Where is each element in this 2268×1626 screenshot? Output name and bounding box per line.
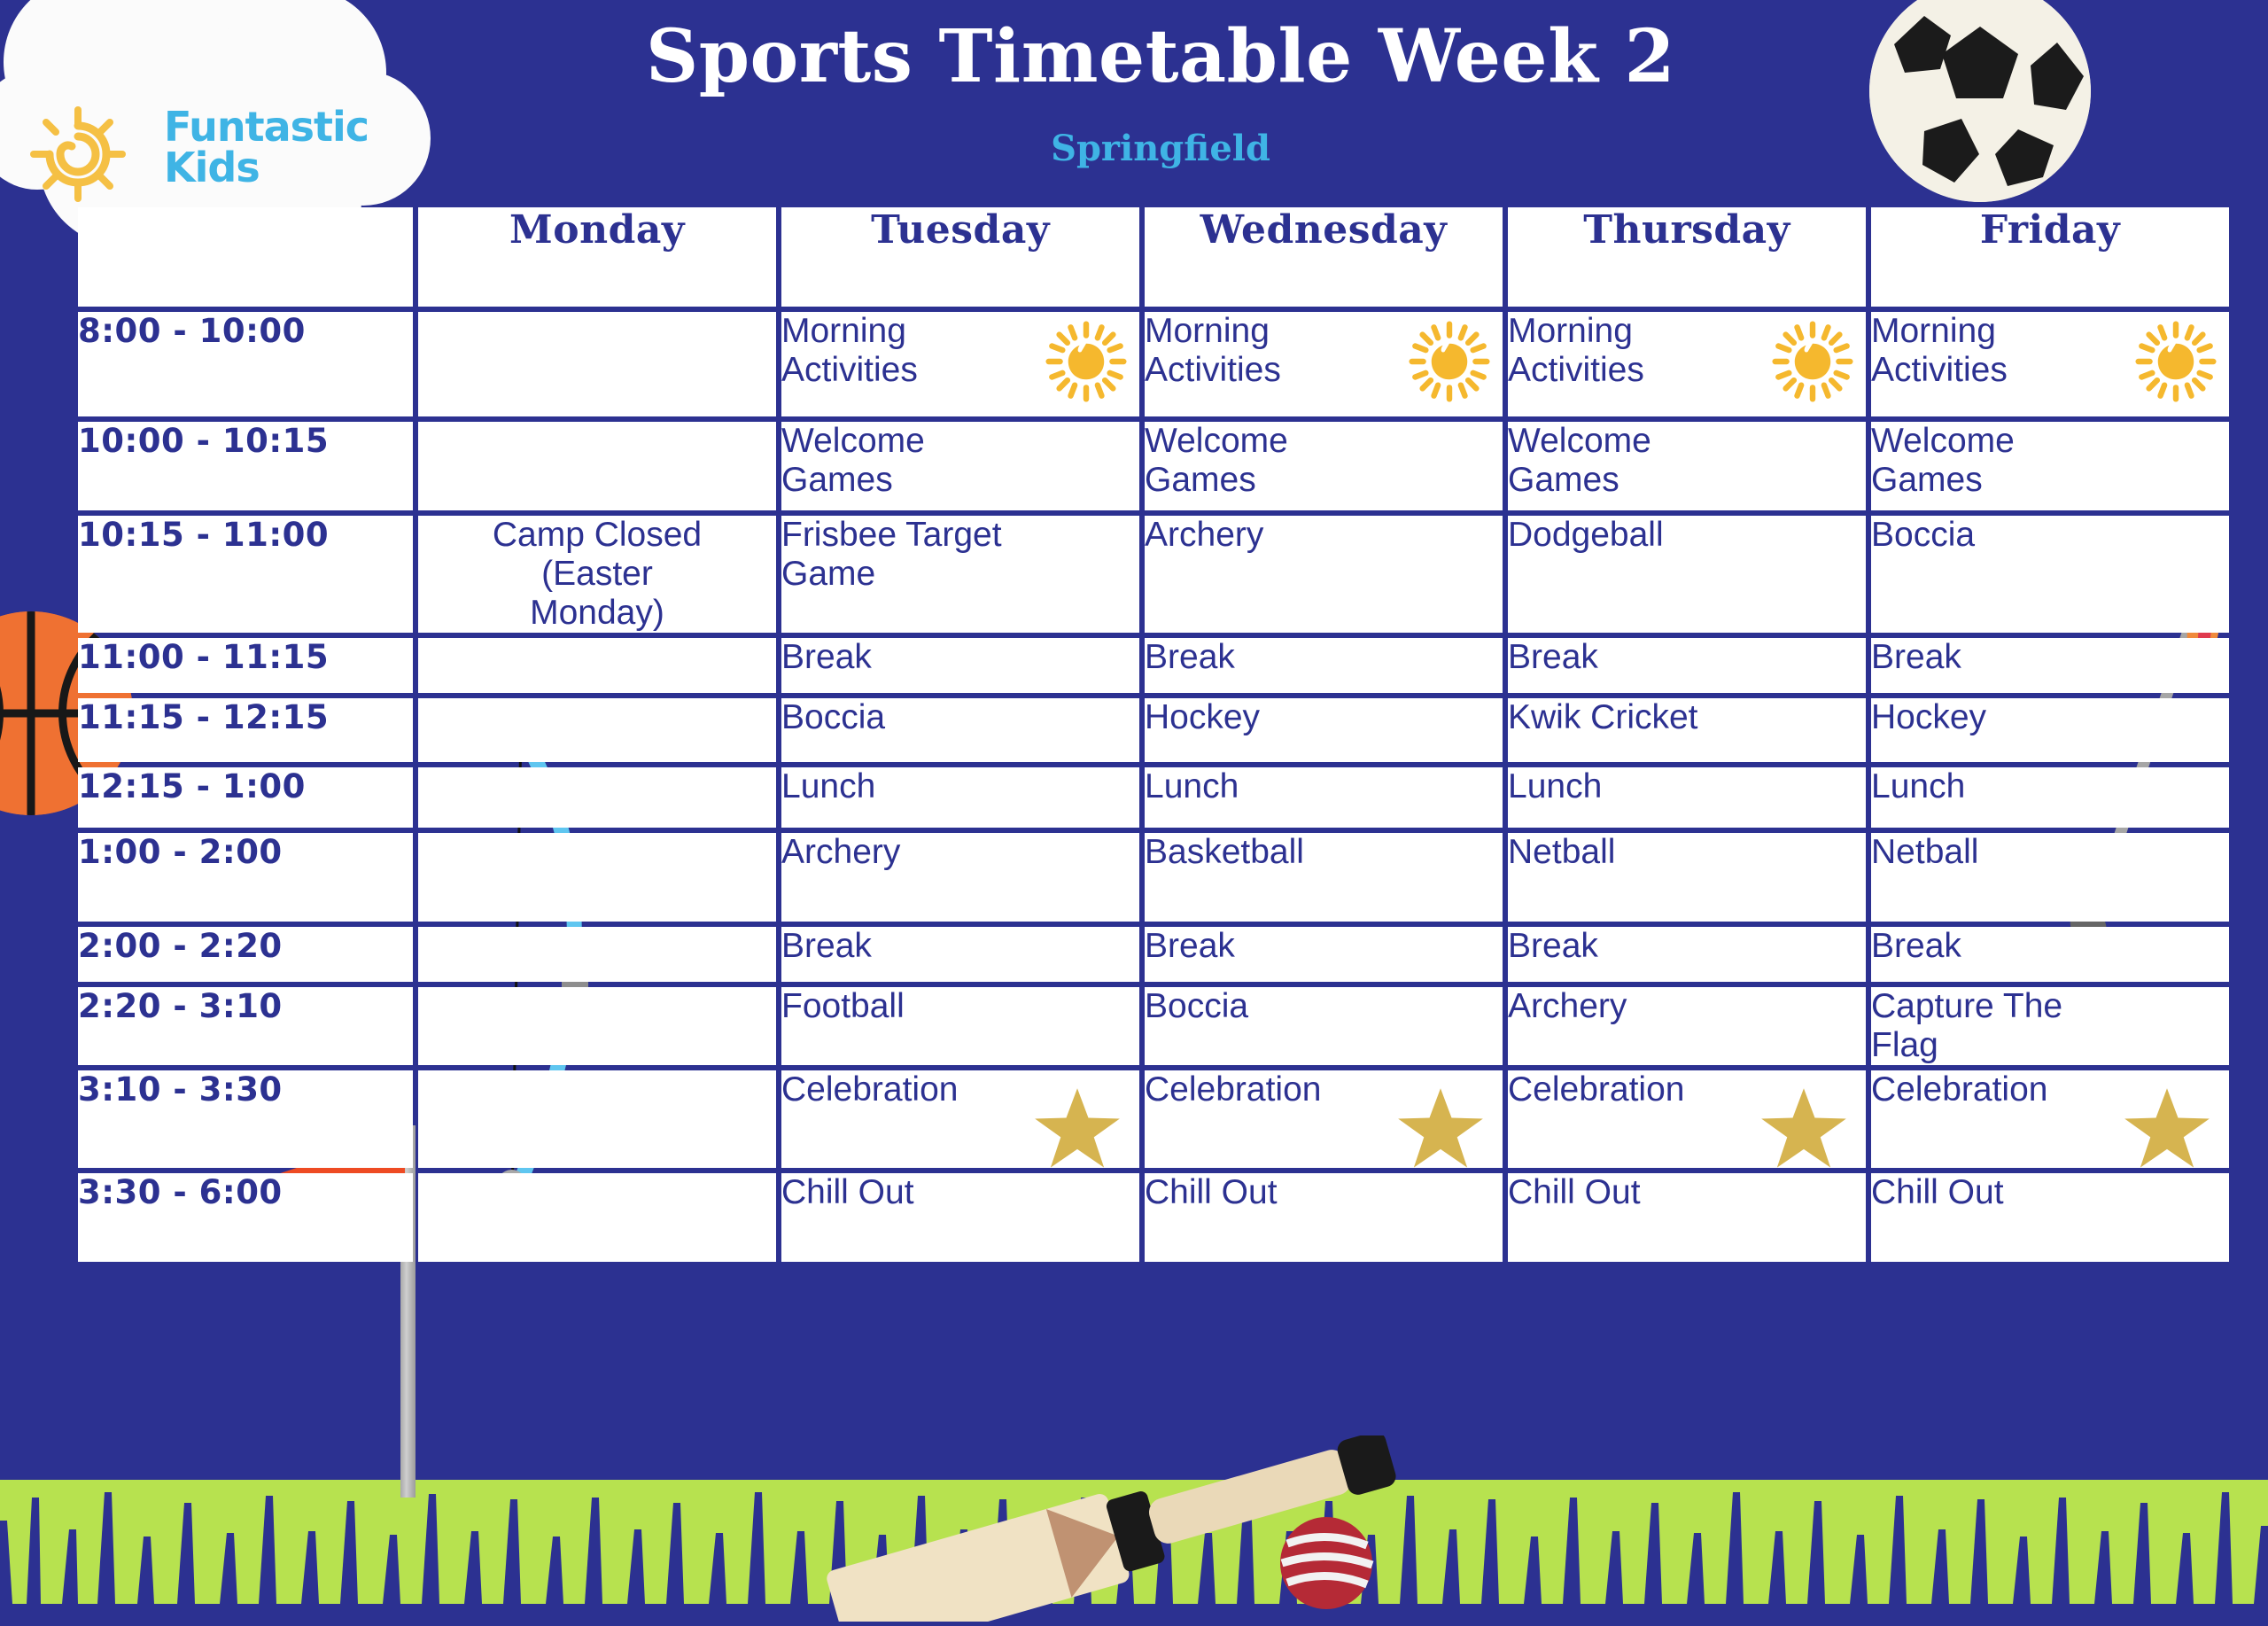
activity-label: Chill Out <box>1871 1173 2004 1212</box>
activity-cell[interactable]: Netball <box>1508 833 1866 922</box>
activity-cell[interactable]: Boccia <box>1145 987 1503 1065</box>
activity-cell[interactable]: Hockey <box>1871 698 2229 762</box>
activity-cell[interactable]: Morning Activities <box>1145 312 1503 416</box>
star-icon <box>2121 1083 2213 1175</box>
activity-cell[interactable] <box>418 987 776 1065</box>
activity-cell[interactable]: Welcome Games <box>1508 422 1866 510</box>
activity-label: Morning Activities <box>1145 312 1371 390</box>
activity-label: Morning Activities <box>1508 312 1734 390</box>
activity-cell[interactable] <box>418 312 776 416</box>
activity-cell[interactable]: Break <box>1871 638 2229 693</box>
activity-cell[interactable]: Break <box>1508 638 1866 693</box>
activity-label: Netball <box>1871 833 1978 872</box>
activity-cell[interactable]: Celebration <box>1508 1070 1866 1168</box>
activity-label: Chill Out <box>781 1173 914 1212</box>
time-slot-label: 2:00 - 2:20 <box>78 927 413 982</box>
table-row: 10:15 - 11:00Camp Closed (Easter Monday)… <box>78 516 2229 633</box>
activity-label: Welcome Games <box>781 422 1007 500</box>
page-subtitle: Springfield <box>532 129 1790 168</box>
activity-label: Celebration <box>1508 1070 1684 1109</box>
activity-cell[interactable]: Capture The Flag <box>1871 987 2229 1065</box>
activity-label: Camp Closed (Easter Monday) <box>485 516 711 633</box>
activity-label: Welcome Games <box>1508 422 1734 500</box>
activity-cell[interactable]: Chill Out <box>1508 1173 1866 1262</box>
activity-cell[interactable]: Morning Activities <box>1508 312 1866 416</box>
timetable-header-row: Monday Tuesday Wednesday Thursday Friday <box>78 207 2229 307</box>
activity-cell[interactable]: Welcome Games <box>781 422 1139 510</box>
star-icon <box>1758 1083 1850 1175</box>
day-header-wednesday: Wednesday <box>1145 207 1503 307</box>
activity-cell[interactable]: Boccia <box>781 698 1139 762</box>
activity-label: Morning Activities <box>1871 312 2097 390</box>
activity-label: Archery <box>1145 516 1263 555</box>
activity-label: Dodgeball <box>1508 516 1664 555</box>
activity-label: Hockey <box>1871 698 1986 737</box>
activity-label: Break <box>781 927 872 966</box>
sun-icon <box>1409 321 1490 402</box>
activity-label: Celebration <box>781 1070 958 1109</box>
time-slot-label: 1:00 - 2:00 <box>78 833 413 922</box>
sun-icon <box>28 105 128 204</box>
logo-line-1: Funtastic <box>164 106 369 147</box>
activity-label: Netball <box>1508 833 1615 872</box>
timetable: Monday Tuesday Wednesday Thursday Friday… <box>73 202 2234 1267</box>
timetable-body: 8:00 - 10:00Morning ActivitiesMorning Ac… <box>78 312 2229 1262</box>
activity-cell[interactable]: Camp Closed (Easter Monday) <box>418 516 776 633</box>
activity-cell[interactable]: Break <box>1871 927 2229 982</box>
timetable-container: Monday Tuesday Wednesday Thursday Friday… <box>73 202 2199 1267</box>
activity-cell[interactable]: Lunch <box>1871 767 2229 828</box>
activity-cell[interactable]: Archery <box>1145 516 1503 633</box>
activity-label: Break <box>1871 638 1961 677</box>
activity-label: Chill Out <box>1145 1173 1278 1212</box>
activity-label: Frisbee Target Game <box>781 516 1007 594</box>
activity-cell[interactable]: Break <box>1508 927 1866 982</box>
page-title: Sports Timetable Week 2 <box>532 16 1790 97</box>
activity-cell[interactable]: Break <box>781 638 1139 693</box>
sun-icon <box>2135 321 2217 402</box>
activity-cell[interactable] <box>418 1173 776 1262</box>
activity-cell[interactable] <box>418 638 776 693</box>
activity-label: Welcome Games <box>1145 422 1371 500</box>
activity-label: Celebration <box>1145 1070 1321 1109</box>
time-slot-label: 10:00 - 10:15 <box>78 422 413 510</box>
activity-cell[interactable] <box>418 1070 776 1168</box>
activity-label: Archery <box>781 833 900 872</box>
activity-label: Archery <box>1508 987 1627 1026</box>
activity-label: Break <box>1145 638 1235 677</box>
activity-label: Chill Out <box>1508 1173 1641 1212</box>
time-slot-label: 11:15 - 12:15 <box>78 698 413 762</box>
activity-cell[interactable]: Kwik Cricket <box>1508 698 1866 762</box>
activity-cell[interactable] <box>418 698 776 762</box>
time-slot-label: 11:00 - 11:15 <box>78 638 413 693</box>
sun-icon <box>1045 321 1127 402</box>
table-row: 12:15 - 1:00LunchLunchLunchLunch <box>78 767 2229 828</box>
activity-cell[interactable] <box>418 927 776 982</box>
activity-cell[interactable]: Boccia <box>1871 516 2229 633</box>
activity-cell[interactable]: Hockey <box>1145 698 1503 762</box>
activity-cell[interactable]: Football <box>781 987 1139 1065</box>
star-icon <box>1394 1083 1487 1175</box>
table-row: 10:00 - 10:15Welcome GamesWelcome GamesW… <box>78 422 2229 510</box>
table-row: 3:30 - 6:00Chill OutChill OutChill OutCh… <box>78 1173 2229 1262</box>
activity-label: Basketball <box>1145 833 1304 872</box>
activity-label: Break <box>1508 638 1598 677</box>
activity-label: Lunch <box>1508 767 1602 806</box>
time-slot-label: 12:15 - 1:00 <box>78 767 413 828</box>
activity-cell[interactable]: Dodgeball <box>1508 516 1866 633</box>
activity-cell[interactable]: Welcome Games <box>1871 422 2229 510</box>
day-header-friday: Friday <box>1871 207 2229 307</box>
activity-cell[interactable]: Chill Out <box>1145 1173 1503 1262</box>
activity-label: Boccia <box>781 698 885 737</box>
activity-cell[interactable] <box>418 767 776 828</box>
cricket-bat-and-ball-icon <box>797 1435 1435 1622</box>
activity-cell[interactable]: Netball <box>1871 833 2229 922</box>
activity-label: Lunch <box>781 767 875 806</box>
activity-cell[interactable]: Welcome Games <box>1145 422 1503 510</box>
day-header-thursday: Thursday <box>1508 207 1866 307</box>
table-row: 11:00 - 11:15BreakBreakBreakBreak <box>78 638 2229 693</box>
day-header-tuesday: Tuesday <box>781 207 1139 307</box>
activity-label: Boccia <box>1871 516 1975 555</box>
activity-cell[interactable] <box>418 833 776 922</box>
activity-cell[interactable]: Basketball <box>1145 833 1503 922</box>
activity-label: Lunch <box>1145 767 1239 806</box>
table-row: 11:15 - 12:15BocciaHockeyKwik CricketHoc… <box>78 698 2229 762</box>
time-slot-label: 10:15 - 11:00 <box>78 516 413 633</box>
activity-cell[interactable]: Chill Out <box>781 1173 1139 1262</box>
activity-cell[interactable]: Celebration <box>781 1070 1139 1168</box>
activity-label: Lunch <box>1871 767 1965 806</box>
table-row: 2:00 - 2:20BreakBreakBreakBreak <box>78 927 2229 982</box>
activity-cell[interactable]: Chill Out <box>1871 1173 2229 1262</box>
activity-cell[interactable]: Lunch <box>1508 767 1866 828</box>
activity-label: Morning Activities <box>781 312 1007 390</box>
table-row: 3:10 - 3:30CelebrationCelebrationCelebra… <box>78 1070 2229 1168</box>
activity-cell[interactable]: Archery <box>781 833 1139 922</box>
activity-label: Capture The Flag <box>1871 987 2097 1065</box>
activity-cell[interactable]: Lunch <box>781 767 1139 828</box>
activity-label: Break <box>1145 927 1235 966</box>
activity-cell[interactable]: Archery <box>1508 987 1866 1065</box>
logo-text: Funtastic Kids <box>164 106 369 188</box>
activity-label: Break <box>781 638 872 677</box>
activity-cell[interactable]: Frisbee Target Game <box>781 516 1139 633</box>
activity-cell[interactable]: Morning Activities <box>1871 312 2229 416</box>
time-slot-label: 8:00 - 10:00 <box>78 312 413 416</box>
soccer-ball-icon <box>1869 0 2091 202</box>
star-icon <box>1031 1083 1123 1175</box>
activity-label: Football <box>781 987 905 1026</box>
activity-cell[interactable]: Break <box>1145 927 1503 982</box>
day-header-monday: Monday <box>418 207 776 307</box>
activity-label: Kwik Cricket <box>1508 698 1698 737</box>
activity-cell[interactable]: Break <box>781 927 1139 982</box>
activity-label: Boccia <box>1145 987 1248 1026</box>
activity-cell[interactable]: Celebration <box>1871 1070 2229 1168</box>
activity-cell[interactable]: Celebration <box>1145 1070 1503 1168</box>
activity-cell[interactable] <box>418 422 776 510</box>
table-row: 2:20 - 3:10FootballBocciaArcheryCapture … <box>78 987 2229 1065</box>
activity-cell[interactable]: Break <box>1145 638 1503 693</box>
activity-label: Celebration <box>1871 1070 2047 1109</box>
logo-line-2: Kids <box>164 147 369 188</box>
activity-label: Break <box>1508 927 1598 966</box>
time-slot-label: 3:30 - 6:00 <box>78 1173 413 1262</box>
table-row: 1:00 - 2:00ArcheryBasketballNetballNetba… <box>78 833 2229 922</box>
time-slot-label: 2:20 - 3:10 <box>78 987 413 1065</box>
activity-cell[interactable]: Morning Activities <box>781 312 1139 416</box>
activity-label: Break <box>1871 927 1961 966</box>
table-row: 8:00 - 10:00Morning ActivitiesMorning Ac… <box>78 312 2229 416</box>
time-slot-label: 3:10 - 3:30 <box>78 1070 413 1168</box>
sun-icon <box>1772 321 1853 402</box>
activity-label: Welcome Games <box>1871 422 2097 500</box>
table-corner-cell <box>78 207 413 307</box>
activity-label: Hockey <box>1145 698 1260 737</box>
activity-cell[interactable]: Lunch <box>1145 767 1503 828</box>
